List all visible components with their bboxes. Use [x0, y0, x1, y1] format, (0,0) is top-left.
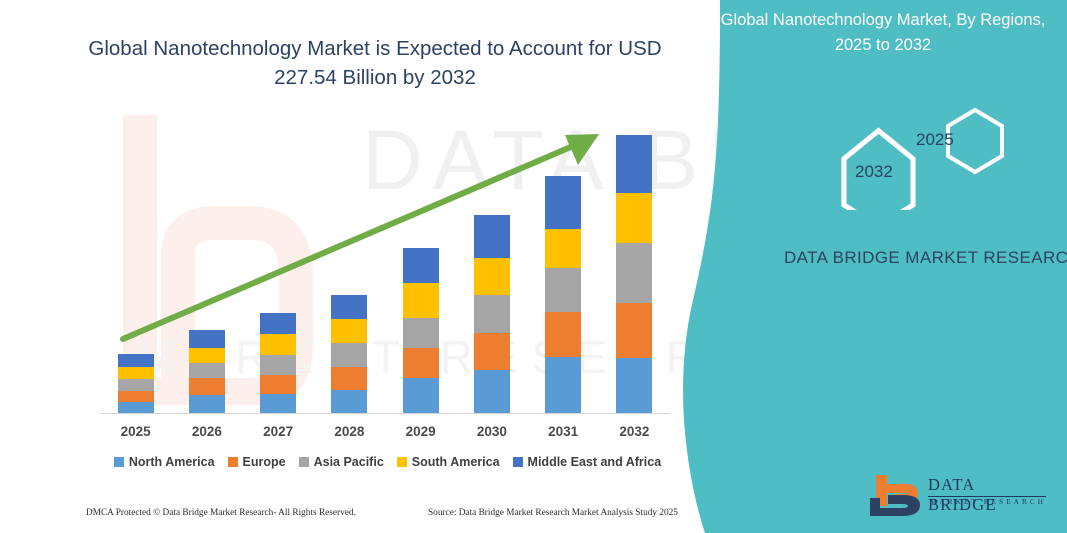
logo-tagline: MARKET RESEARCH — [930, 498, 1046, 506]
bar-segment — [331, 295, 367, 319]
bar-column — [331, 295, 367, 413]
bar-segment — [545, 357, 581, 413]
bar-segment — [260, 394, 296, 413]
bar-segment — [403, 283, 439, 318]
footer-source: Source: Data Bridge Market Research Mark… — [428, 508, 678, 518]
x-axis-line — [100, 413, 670, 414]
bar-column — [474, 215, 510, 413]
bar-segment — [474, 215, 510, 258]
legend-label: North America — [129, 455, 215, 469]
legend-item[interactable]: Europe — [228, 455, 286, 469]
legend-swatch-icon — [513, 457, 523, 467]
legend-swatch-icon — [228, 457, 238, 467]
hexagon-label-2025: 2025 — [916, 130, 954, 150]
logo-rule — [928, 496, 1046, 497]
x-axis-label: 2028 — [313, 424, 385, 439]
bar-column — [403, 248, 439, 413]
x-axis-label: 2026 — [171, 424, 243, 439]
bar-segment — [403, 318, 439, 348]
footer-copyright: DMCA Protected © Data Bridge Market Rese… — [86, 508, 356, 518]
x-axis-label: 2027 — [242, 424, 314, 439]
bar-segment — [545, 268, 581, 312]
bar-segment — [118, 379, 154, 391]
bar-segment — [616, 193, 652, 243]
panel-title: Global Nanotechnology Market, By Regions… — [708, 8, 1058, 58]
bar-segment — [474, 370, 510, 413]
bar-segment — [403, 378, 439, 413]
hexagon-label-2032: 2032 — [855, 162, 893, 182]
panel-brand: DATA BRIDGE MARKET RESEARCH — [760, 245, 1067, 271]
bar-segment — [189, 348, 225, 363]
bar-column — [118, 354, 154, 413]
legend-item[interactable]: South America — [397, 455, 500, 469]
hexagon-2025 — [948, 110, 1002, 172]
bar-segment — [474, 258, 510, 295]
chart-area: 20252026202720282029203020312032 — [0, 0, 700, 533]
legend-item[interactable]: Middle East and Africa — [513, 455, 662, 469]
bar-segment — [616, 243, 652, 303]
bar-segment — [403, 248, 439, 283]
bridge-mark-icon — [868, 472, 926, 518]
chart-legend: North AmericaEuropeAsia PacificSouth Ame… — [100, 455, 675, 469]
hexagon-group — [820, 100, 1050, 210]
footer: DMCA Protected © Data Bridge Market Rese… — [0, 508, 700, 528]
legend-label: Middle East and Africa — [528, 455, 662, 469]
bar-segment — [118, 391, 154, 402]
x-axis-labels: 20252026202720282029203020312032 — [100, 424, 670, 444]
bar-segment — [616, 135, 652, 193]
legend-item[interactable]: Asia Pacific — [299, 455, 384, 469]
bar-segment — [118, 354, 154, 367]
bar-segment — [331, 319, 367, 343]
bar-segment — [545, 229, 581, 268]
bar-segment — [474, 333, 510, 370]
bar-segment — [545, 312, 581, 357]
legend-label: South America — [412, 455, 500, 469]
legend-label: Asia Pacific — [314, 455, 384, 469]
stacked-bars — [100, 120, 670, 413]
legend-item[interactable]: North America — [114, 455, 215, 469]
logo-name: DATA BRIDGE — [928, 475, 1048, 515]
legend-label: Europe — [243, 455, 286, 469]
brand-logo: DATA BRIDGE MARKET RESEARCH — [868, 472, 1048, 520]
legend-swatch-icon — [299, 457, 309, 467]
x-axis-label: 2031 — [527, 424, 599, 439]
bar-column — [189, 330, 225, 413]
legend-swatch-icon — [397, 457, 407, 467]
legend-swatch-icon — [114, 457, 124, 467]
bar-segment — [189, 378, 225, 395]
bar-segment — [616, 303, 652, 358]
bar-segment — [616, 358, 652, 413]
bar-column — [260, 313, 296, 413]
bar-segment — [118, 402, 154, 413]
bar-column — [545, 176, 581, 413]
bar-segment — [260, 375, 296, 394]
infographic-canvas: DATA BRIDGE MARKET RESEARCH Global Nanot… — [0, 0, 1067, 533]
bar-segment — [331, 367, 367, 390]
bar-segment — [260, 313, 296, 334]
bar-segment — [331, 390, 367, 413]
bar-segment — [403, 348, 439, 378]
bar-column — [616, 135, 652, 413]
x-axis-label: 2029 — [385, 424, 457, 439]
bar-segment — [545, 176, 581, 229]
bar-segment — [189, 395, 225, 413]
bar-segment — [189, 330, 225, 348]
x-axis-label: 2025 — [100, 424, 172, 439]
x-axis-label: 2030 — [456, 424, 528, 439]
bar-segment — [331, 343, 367, 367]
bar-segment — [118, 367, 154, 379]
bar-segment — [260, 334, 296, 355]
bar-segment — [260, 355, 296, 375]
bar-segment — [189, 363, 225, 378]
bar-segment — [474, 295, 510, 333]
